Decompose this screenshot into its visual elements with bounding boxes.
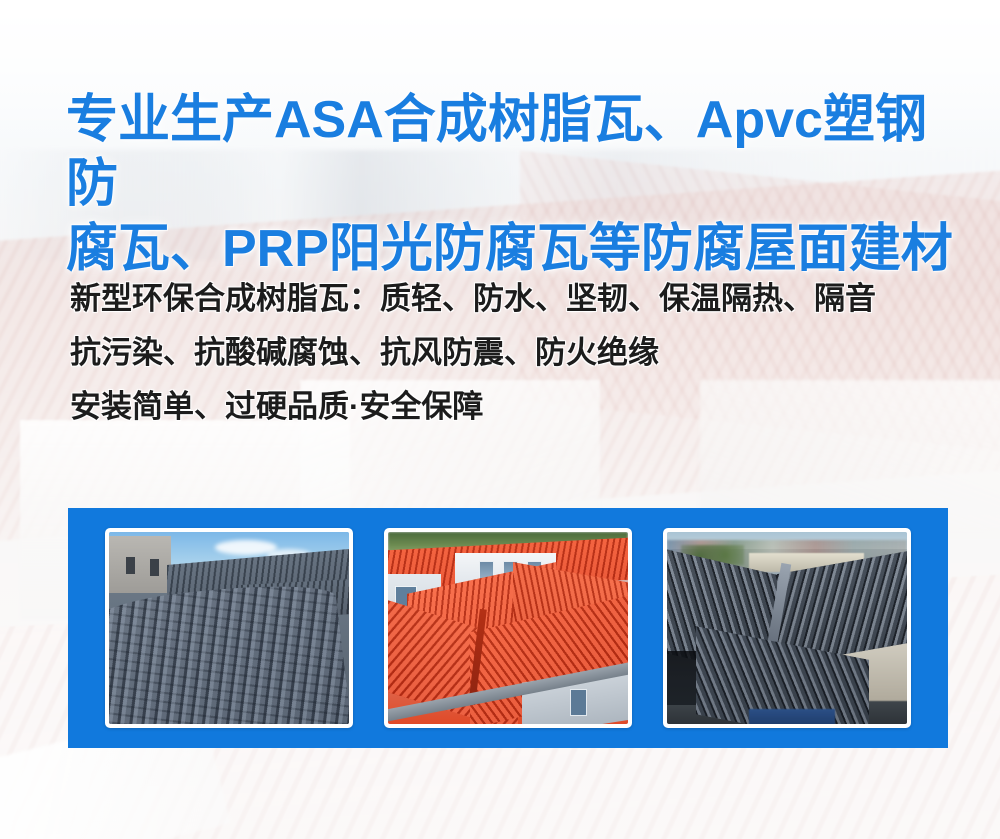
gray-roof-photo-image <box>109 532 349 724</box>
red-roof-photo-image <box>388 532 628 724</box>
banner-subtext-block: 新型环保合成树脂瓦：质轻、防水、坚韧、保温隔热、隔音 抗污染、抗酸碱腐蚀、抗风防… <box>70 272 970 434</box>
photo1-main-tile-roof <box>109 574 349 724</box>
gray-resin-tile-roof-photo[interactable] <box>105 528 353 728</box>
banner-headline: 专业生产ASA合成树脂瓦、Apvc塑钢防 腐瓦、PRP阳光防腐瓦等防腐屋面建材 <box>66 88 956 281</box>
photo1-concrete-wall <box>109 536 171 594</box>
photo1-window-2 <box>150 559 160 576</box>
photo2-lower-window <box>570 689 587 716</box>
subtext-line-2: 抗污染、抗酸碱腐蚀、抗风防震、防火绝缘 <box>70 326 970 380</box>
photo3-blue-tarp <box>749 709 835 724</box>
banner-content: 专业生产ASA合成树脂瓦、Apvc塑钢防 腐瓦、PRP阳光防腐瓦等防腐屋面建材 … <box>0 0 1000 839</box>
red-resin-tile-roof-photo[interactable] <box>384 528 632 728</box>
photo-gallery-panel <box>68 508 948 748</box>
subtext-line-3: 安装简单、过硬品质·安全保障 <box>70 380 970 434</box>
photo1-window <box>126 557 136 574</box>
dark-roof-photo-image <box>667 532 907 724</box>
product-promo-banner: 专业生产ASA合成树脂瓦、Apvc塑钢防 腐瓦、PRP阳光防腐瓦等防腐屋面建材 … <box>0 0 1000 839</box>
dark-gray-resin-tile-roof-photo[interactable] <box>663 528 911 728</box>
subtext-line-1: 新型环保合成树脂瓦：质轻、防水、坚韧、保温隔热、隔音 <box>70 272 970 326</box>
